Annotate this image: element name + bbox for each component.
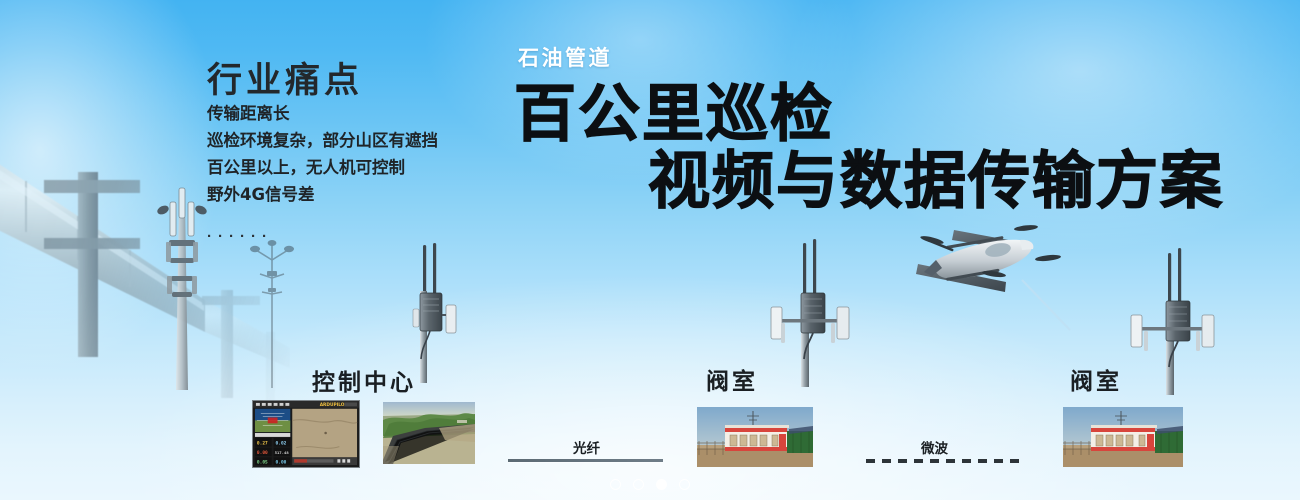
cell-tower-icon <box>155 172 209 395</box>
svg-text:0.05: 0.05 <box>257 459 268 465</box>
carousel-dot-4[interactable] <box>679 479 690 490</box>
drone-icon <box>902 222 1072 347</box>
thumbnail-pipeline-aerial[interactable] <box>383 402 475 464</box>
carousel-dot-2[interactable] <box>633 479 644 490</box>
thumbnail-valve-room[interactable] <box>1063 407 1183 467</box>
svg-text:517.48: 517.48 <box>275 450 290 455</box>
svg-text:0.00: 0.00 <box>257 450 268 456</box>
antenna-mast-icon <box>408 243 464 388</box>
pain-point-ellipsis: ······ <box>207 228 273 245</box>
weather-station-icon <box>248 238 294 393</box>
banner-headline-line2: 视频与数据传输方案 <box>648 150 1224 212</box>
svg-text:0.00: 0.00 <box>276 459 287 465</box>
node-label-valve-room-1: 阀室 <box>706 362 758 396</box>
banner-headline-line1: 百公里巡检 <box>514 83 834 145</box>
link-label-microwave: 微波 <box>921 437 948 457</box>
hero-banner: 行业痛点 传输距离长 巡检环境复杂，部分山区有遮挡 百公里以上，无人机可控制 野… <box>0 0 1300 500</box>
carousel-dot-1[interactable] <box>610 479 621 490</box>
fiber-link-line <box>508 459 663 462</box>
list-item: 百公里以上，无人机可控制 <box>207 154 438 181</box>
antenna-mast-icon <box>765 237 857 392</box>
node-label-valve-room-2: 阀室 <box>1070 362 1122 396</box>
node-label-control-center: 控制中心 <box>312 363 416 397</box>
svg-text:0.27: 0.27 <box>257 440 268 446</box>
list-item: 传输距离长 <box>207 100 438 127</box>
microwave-link-line <box>866 459 1021 463</box>
list-item: 巡检环境复杂，部分山区有遮挡 <box>207 127 438 154</box>
page-title: 行业痛点 <box>207 52 363 103</box>
carousel-dot-3[interactable] <box>656 479 667 490</box>
list-item: 野外4G信号差 <box>207 181 438 208</box>
carousel-dots[interactable] <box>0 479 1300 490</box>
thumbnail-ground-control-station[interactable]: ARDUPILOT 0.27 0.02 0.00 5 <box>252 400 360 468</box>
svg-text:0.02: 0.02 <box>276 440 287 446</box>
svg-text:ARDUPILOT: ARDUPILOT <box>320 402 348 408</box>
antenna-mast-icon <box>1128 245 1224 400</box>
banner-kicker: 石油管道 <box>518 42 612 72</box>
pain-point-list: 传输距离长 巡检环境复杂，部分山区有遮挡 百公里以上，无人机可控制 野外4G信号… <box>207 100 438 208</box>
link-label-fiber: 光纤 <box>573 437 600 457</box>
thumbnail-valve-room[interactable] <box>697 407 813 467</box>
